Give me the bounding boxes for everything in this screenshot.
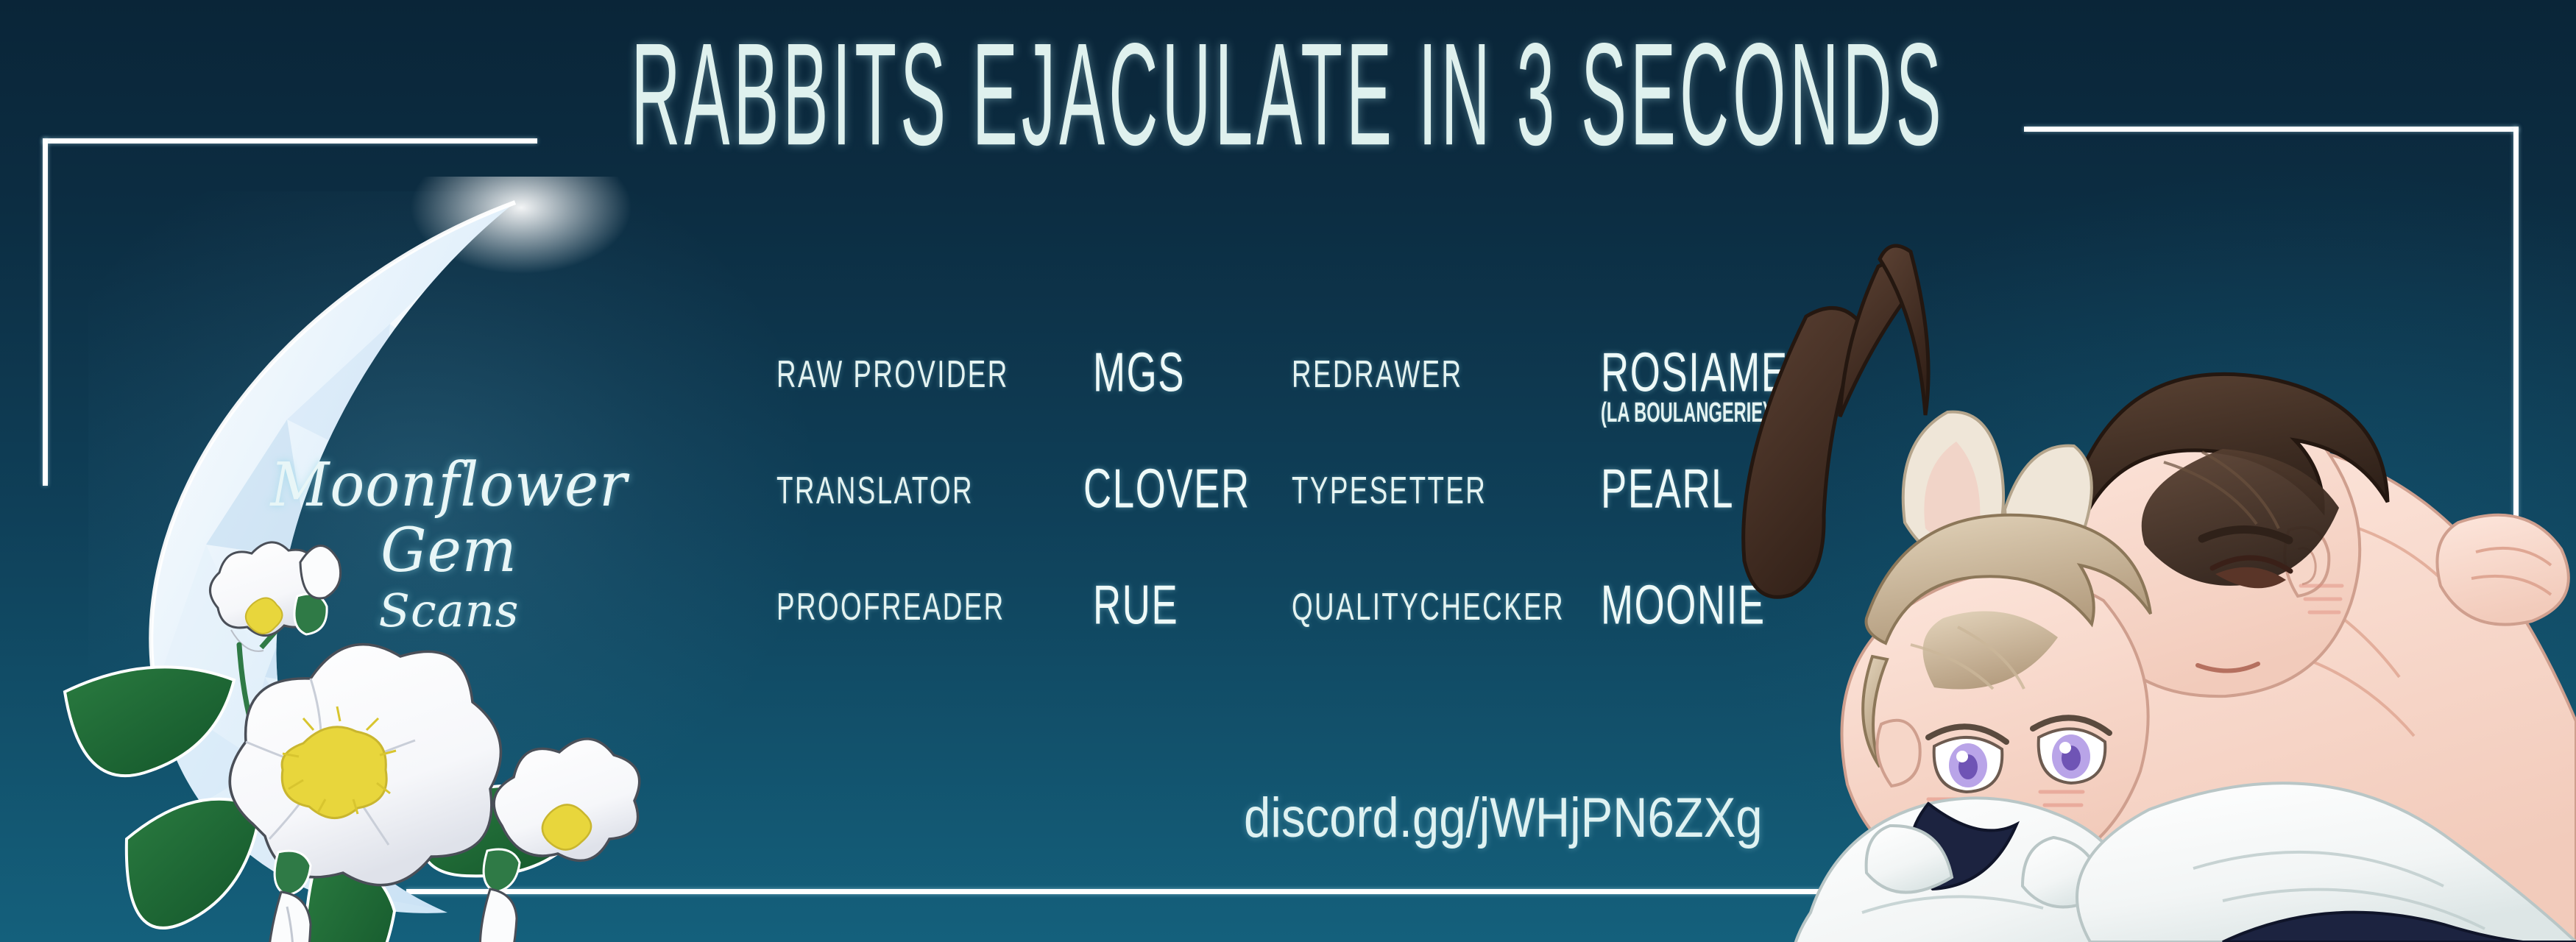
credit-label: RAW PROVIDER xyxy=(776,352,1030,396)
character-illustration xyxy=(1708,206,2576,942)
moonflower-logo-artwork xyxy=(44,177,780,942)
credit-label: TRANSLATOR xyxy=(776,468,1022,512)
credit-entry-translator: TRANSLATOR CLOVER xyxy=(776,462,1292,510)
credit-value: CLOVER xyxy=(1083,462,1250,514)
flower-bud xyxy=(268,851,311,942)
credit-value-group: RUE xyxy=(1093,578,1200,624)
credit-value: RUE xyxy=(1093,578,1178,631)
leaf xyxy=(127,799,261,928)
page-title: RABBITS EJACULATE IN 3 SECONDS xyxy=(489,16,2087,171)
moonflower-cluster xyxy=(65,542,640,942)
credit-entry-raw-provider: RAW PROVIDER MGS xyxy=(776,346,1292,394)
credit-entry-proofreader: PROOFREADER RUE xyxy=(776,578,1292,626)
rabbit-ears-dark xyxy=(1744,246,1928,597)
credit-label: TYPESETTER xyxy=(1292,468,1539,512)
credit-page-banner: RABBITS EJACULATE IN 3 SECONDS xyxy=(0,0,2576,942)
credits-block: RAW PROVIDER MGS REDRAWER ROSIAME (LA BO… xyxy=(776,346,1851,695)
frame-rule-top-right xyxy=(2024,127,2519,132)
flower-bud xyxy=(480,849,520,942)
credit-row: TRANSLATOR CLOVER TYPESETTER PEARL xyxy=(776,462,1851,578)
credit-row: PROOFREADER RUE QUALITYCHECKER MOONIE xyxy=(776,578,1851,695)
credit-row: RAW PROVIDER MGS REDRAWER ROSIAME (LA BO… xyxy=(776,346,1851,462)
credit-label: PROOFREADER xyxy=(776,584,1030,628)
credit-value: MGS xyxy=(1093,346,1185,398)
credit-label: REDRAWER xyxy=(1292,352,1539,396)
hand xyxy=(2437,515,2568,625)
discord-invite-link[interactable]: discord.gg/jWHjPN6ZXg xyxy=(1244,786,1763,850)
credit-label: QUALITYCHECKER xyxy=(1292,584,1539,628)
frame-rule-top-left xyxy=(43,138,537,144)
credit-value-group: CLOVER xyxy=(1083,462,1292,508)
credit-value-group: MGS xyxy=(1093,346,1208,392)
moonflower-right xyxy=(494,739,640,860)
